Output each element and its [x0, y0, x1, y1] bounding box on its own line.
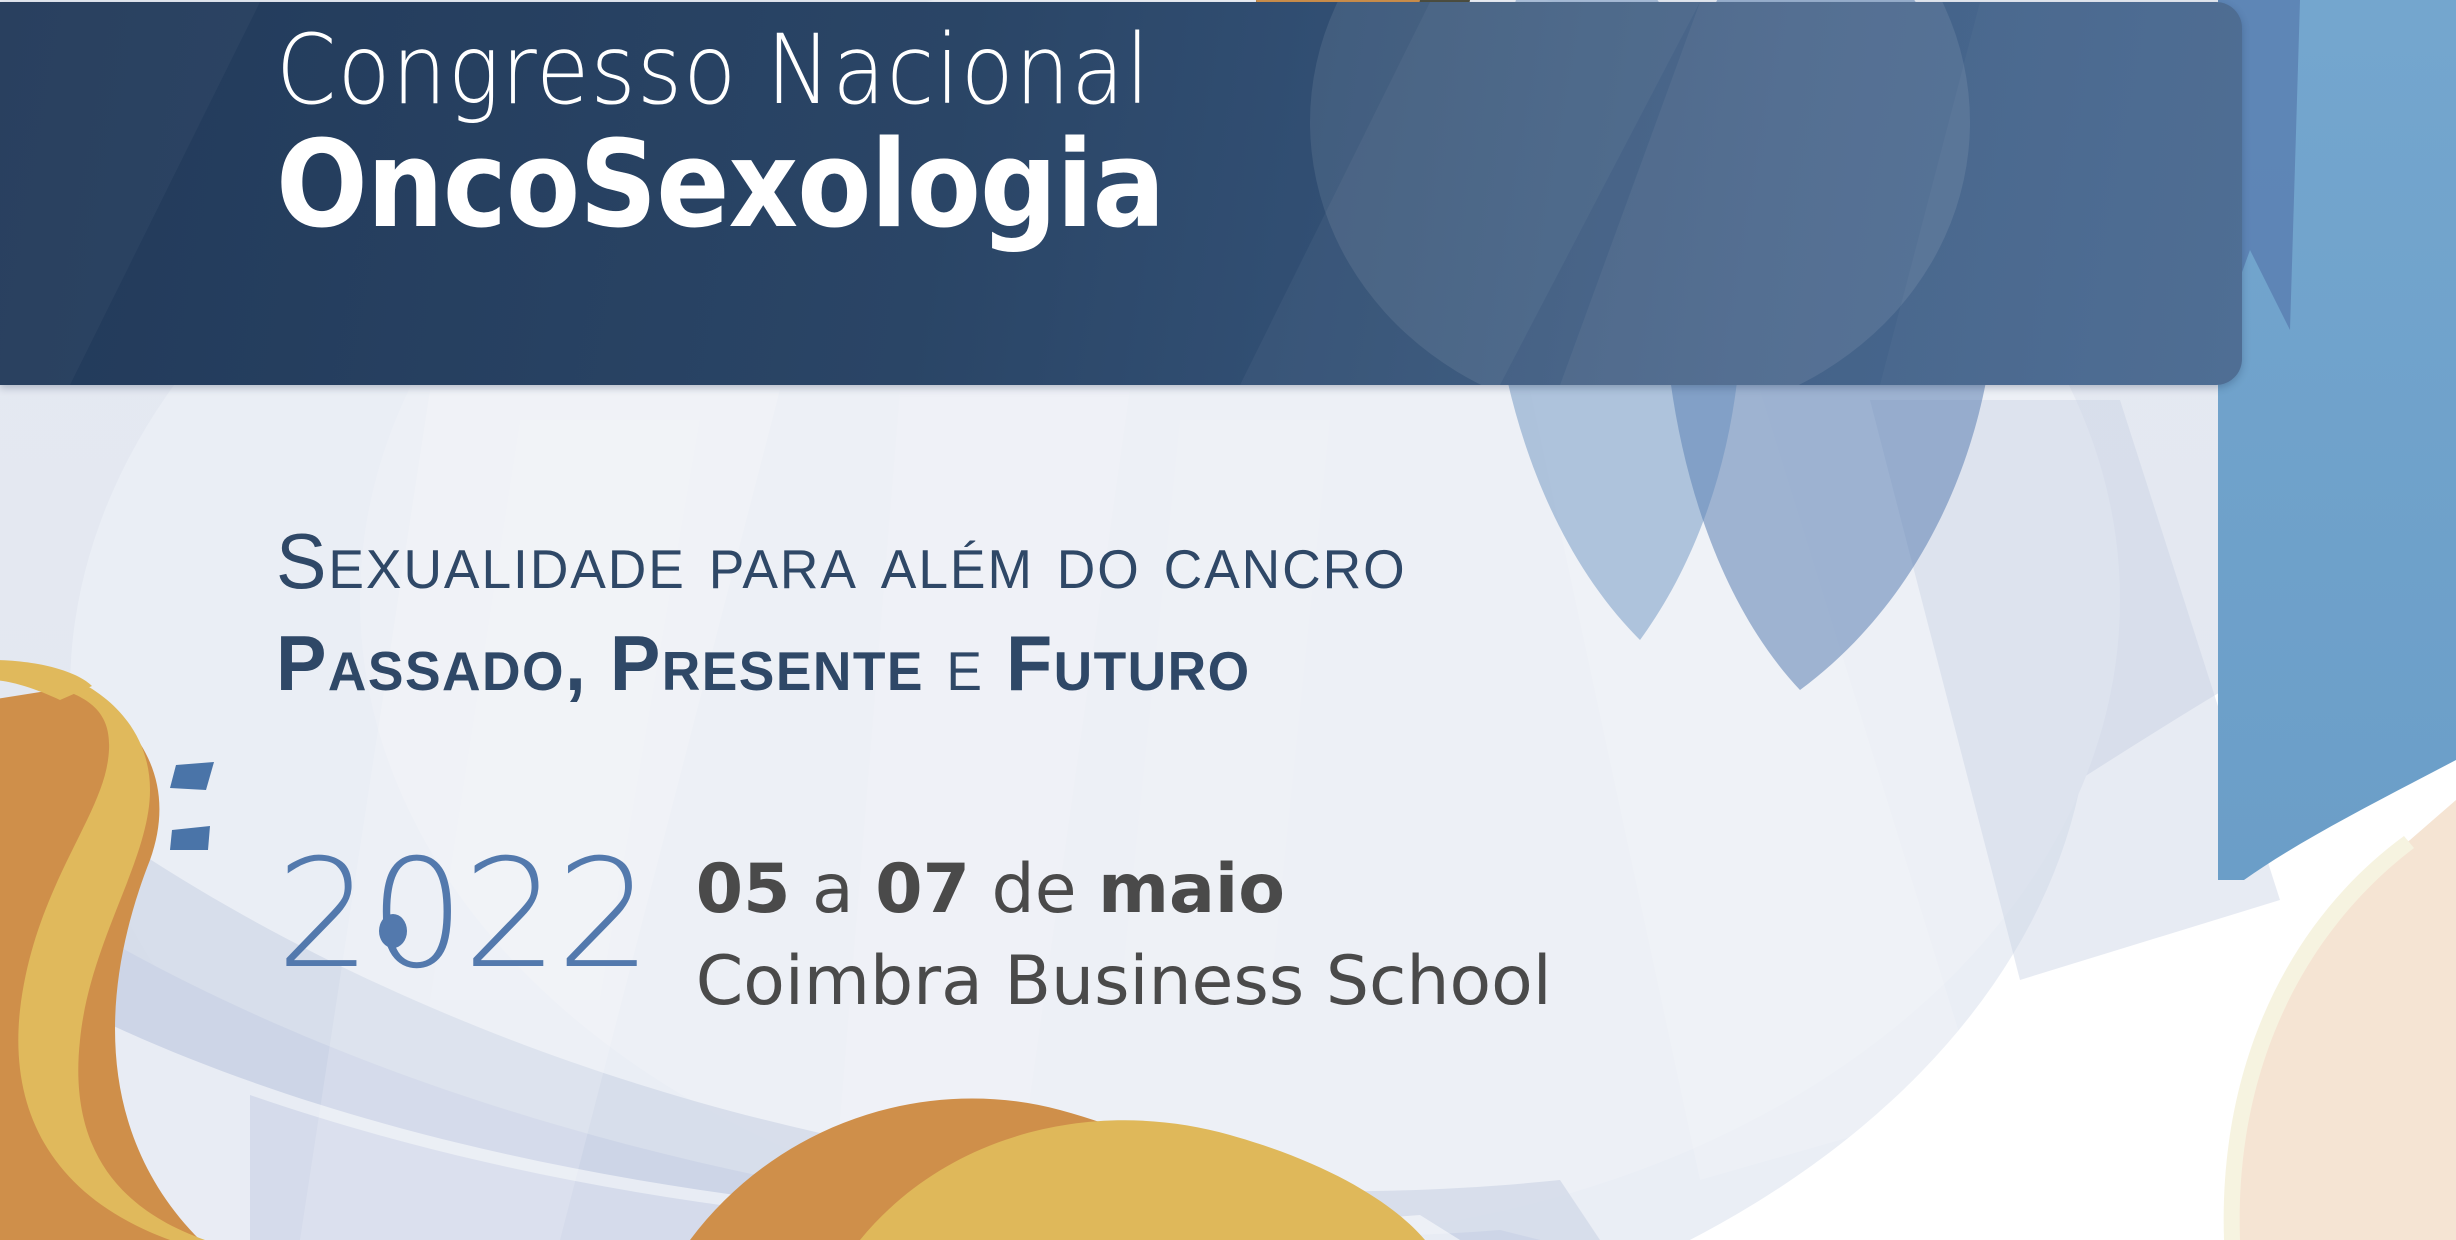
event-month: maio — [1098, 850, 1285, 929]
tagline-part-two: Futuro — [983, 619, 1250, 707]
event-date-venue: 05 a 07 de maio Coimbra Business School — [696, 840, 1552, 1016]
congress-name: OncoSexologia — [276, 119, 1165, 253]
event-dates: 05 a 07 de maio — [696, 856, 1552, 924]
event-month-preposition: de — [970, 850, 1098, 929]
event-details-block: 2022 05 a 07 de maio Coimbra Business Sc… — [276, 840, 1552, 1016]
event-day-end: 07 — [875, 850, 970, 929]
tagline-part-one: Passado, Presente — [276, 619, 946, 707]
banner-text-group: Congresso Nacional OncoSexologia — [276, 16, 1263, 254]
event-venue: Coimbra Business School — [696, 948, 1552, 1016]
poster-root: Congresso Nacional OncoSexologia Sexuali… — [0, 0, 2456, 1240]
title-banner: Congresso Nacional OncoSexologia — [0, 2, 2242, 385]
tagline-conjunction: e — [946, 619, 983, 707]
event-year: 2022 — [276, 840, 650, 990]
event-day-connector: a — [790, 850, 875, 929]
subtitle-theme: Sexualidade para além do cancro — [276, 522, 1407, 600]
subtitle-block: Sexualidade para além do cancro Passado,… — [276, 522, 1441, 702]
event-day-start: 05 — [696, 850, 791, 929]
subtitle-tagline: Passado, Presente e Futuro — [276, 624, 1407, 702]
congress-line: Congresso Nacional — [276, 16, 1165, 125]
event-year-wrap: 2022 — [276, 840, 650, 990]
year-zero-dot-icon — [379, 914, 407, 948]
